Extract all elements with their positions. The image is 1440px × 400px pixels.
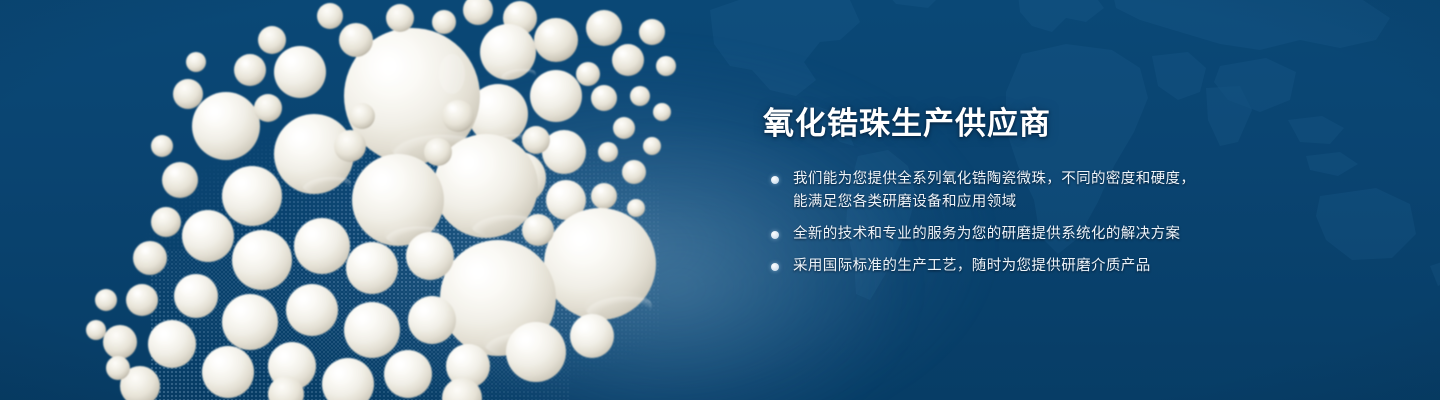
bullet-text-line1: 全新的技术和专业的服务为您的研磨提供系统化的解决方案: [793, 223, 1213, 246]
bullet-text-line2: 能满足您各类研磨设备和应用领域: [793, 191, 1213, 214]
bullet-dot-icon: [771, 263, 779, 271]
zirconia-bead-cluster-image: [0, 0, 760, 400]
banner-headline: 氧化锆珠生产供应商: [763, 104, 1213, 144]
bullet-item: 全新的技术和专业的服务为您的研磨提供系统化的解决方案: [763, 223, 1213, 246]
bullet-item: 我们能为您提供全系列氧化锆陶瓷微珠，不同的密度和硬度， 能满足您各类研磨设备和应…: [763, 168, 1213, 214]
bullet-dot-icon: [771, 231, 779, 239]
banner-bullet-list: 我们能为您提供全系列氧化锆陶瓷微珠，不同的密度和硬度， 能满足您各类研磨设备和应…: [763, 168, 1213, 278]
hero-banner: 氧化锆珠生产供应商 我们能为您提供全系列氧化锆陶瓷微珠，不同的密度和硬度， 能满…: [0, 0, 1440, 400]
bullet-dot-icon: [771, 176, 779, 184]
banner-copy: 氧化锆珠生产供应商 我们能为您提供全系列氧化锆陶瓷微珠，不同的密度和硬度， 能满…: [763, 104, 1213, 278]
bullet-item: 采用国际标准的生产工艺，随时为您提供研磨介质产品: [763, 255, 1213, 278]
bullet-text-line1: 我们能为您提供全系列氧化锆陶瓷微珠，不同的密度和硬度，: [793, 168, 1213, 191]
bullet-text-line1: 采用国际标准的生产工艺，随时为您提供研磨介质产品: [793, 255, 1213, 278]
